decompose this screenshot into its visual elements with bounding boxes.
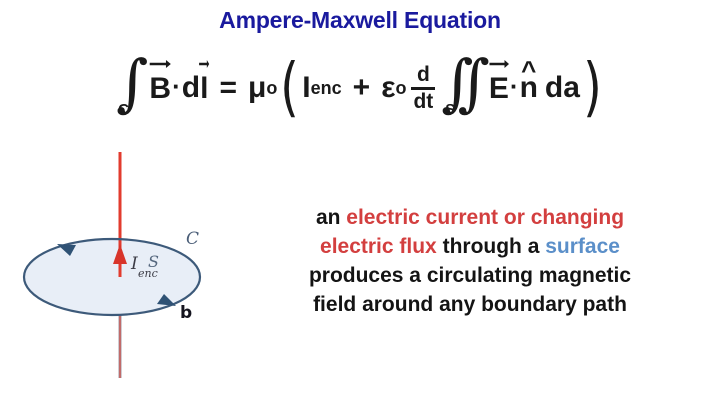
description-line-1: an electric current or changing	[240, 203, 700, 232]
slide-canvas: Ampere-Maxwell Equation ∫ C B · d	[0, 0, 720, 404]
diagram-svg: C S I enc b	[0, 140, 240, 390]
derivative-denominator: dt	[411, 90, 435, 112]
vector-arrow-icon	[489, 58, 509, 68]
surface-integral: ∫∫ S	[441, 59, 488, 116]
vector-arrow-icon	[149, 58, 171, 68]
enclosed-current-subscript: enc	[311, 78, 342, 99]
page-title: Ampere-Maxwell Equation	[0, 7, 720, 34]
description-line1-prefix: an	[316, 206, 346, 229]
ampere-maxwell-equation: ∫ C B · d l =	[0, 48, 720, 128]
description-line-2: electric flux through a surface	[240, 232, 700, 261]
enclosed-current-symbol: I	[302, 71, 310, 105]
epsilon-symbol: ε	[381, 71, 395, 105]
mu-symbol: μ	[248, 71, 266, 105]
equation-line: ∫ C B · d l =	[115, 48, 605, 128]
integral-lower-limit-c: C	[118, 102, 129, 117]
description-line2-blue: surface	[545, 235, 620, 258]
time-derivative-fraction: d dt	[411, 64, 435, 112]
dot-product-operator-2: ·	[509, 73, 520, 99]
b-field-symbol: B	[149, 72, 171, 105]
description-line-4: field around any boundary path	[240, 290, 700, 319]
contour-integral: ∫ C	[116, 59, 148, 116]
close-parenthesis: )	[583, 69, 602, 109]
description-text: an electric current or changing electric…	[240, 203, 700, 319]
label-boundary-b: b	[180, 303, 192, 323]
mu-subscript: o	[266, 78, 277, 99]
epsilon-subscript: o	[395, 78, 406, 99]
ampere-law-diagram: C S I enc b	[0, 140, 240, 390]
derivative-numerator: d	[415, 64, 432, 86]
vector-arrow-icon	[199, 58, 209, 68]
integral-lower-limit-s: S	[445, 102, 455, 117]
description-line2-red: electric flux	[320, 235, 437, 258]
dl-vector: l	[200, 70, 208, 106]
dot-product-operator-1: ·	[171, 73, 182, 99]
hat-accent-icon: ^	[521, 57, 536, 83]
description-line-3: produces a circulating magnetic	[240, 261, 700, 290]
b-field-vector: B	[149, 70, 171, 106]
label-current-subscript-enc: enc	[138, 267, 158, 280]
label-current-i: I	[130, 254, 138, 274]
plus-sign: +	[353, 71, 371, 105]
unit-normal-vector: ^ n	[520, 71, 538, 105]
line-element-symbol: l	[200, 72, 208, 105]
e-field-symbol: E	[489, 72, 509, 105]
area-element-symbol: da	[545, 71, 580, 105]
e-field-vector: E	[489, 70, 509, 106]
differential-d-1: d	[182, 71, 200, 105]
label-contour-c: C	[186, 229, 199, 249]
description-line2-mid: through a	[437, 235, 546, 258]
equals-sign: =	[219, 71, 237, 105]
open-parenthesis: (	[280, 69, 299, 109]
description-line1-red: electric current or changing	[346, 206, 624, 229]
